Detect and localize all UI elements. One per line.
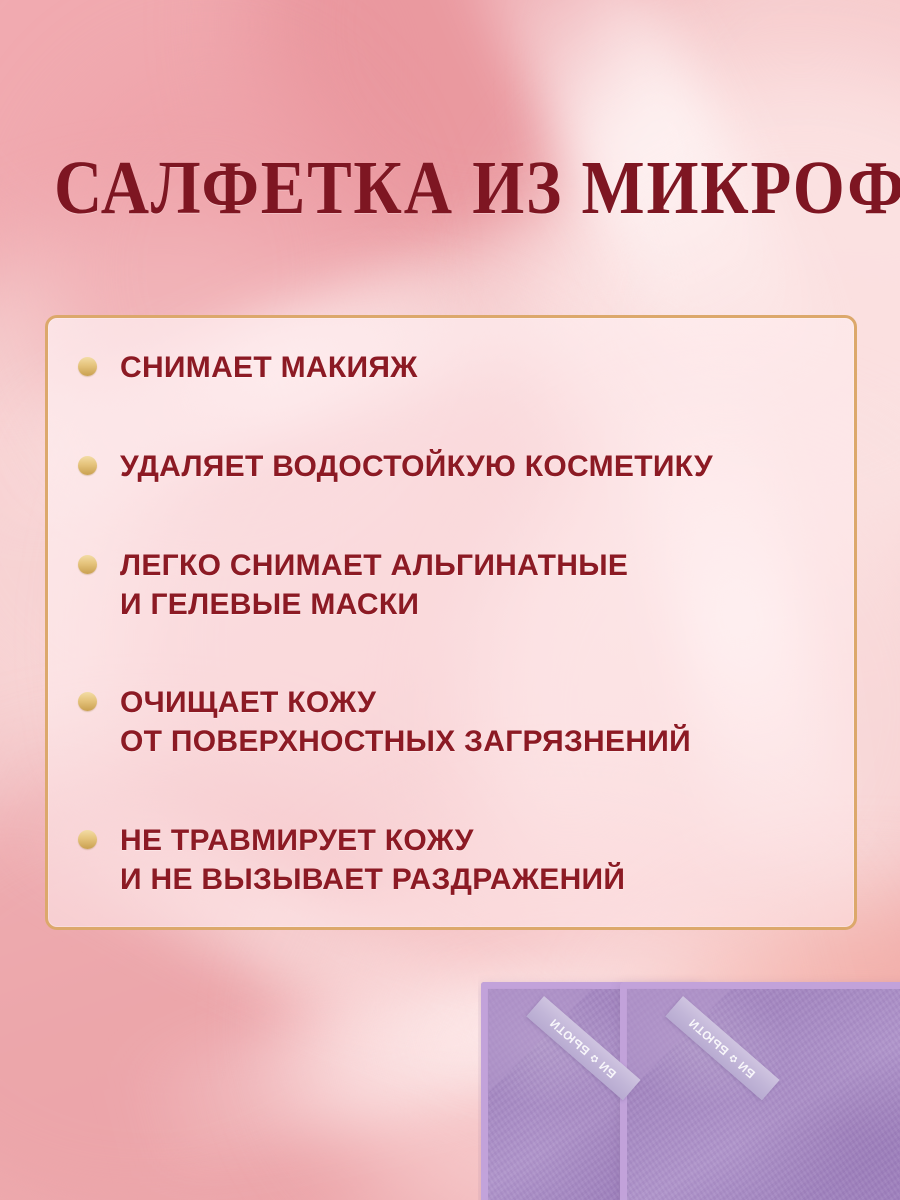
features-list: СНИМАЕТ МАКИЯЖ УДАЛЯЕТ ВОДОСТОЙКУЮ КОСМЕ… bbox=[78, 340, 830, 909]
list-item: УДАЛЯЕТ ВОДОСТОЙКУЮ КОСМЕТИКУ bbox=[78, 447, 830, 486]
feature-text: УДАЛЯЕТ ВОДОСТОЙКУЮ КОСМЕТИКУ bbox=[120, 447, 713, 486]
brand-label-prefix: БИ bbox=[735, 1058, 758, 1081]
feature-line: УДАЛЯЕТ ВОДОСТОЙКУЮ КОСМЕТИКУ bbox=[120, 447, 713, 486]
feature-line: НЕ ТРАВМИРУЕТ КОЖУ bbox=[120, 821, 625, 860]
feature-line: И НЕ ВЫЗЫВАЕТ РАЗДРАЖЕНИЙ bbox=[120, 860, 625, 899]
feature-text: НЕ ТРАВМИРУЕТ КОЖУ И НЕ ВЫЗЫВАЕТ РАЗДРАЖ… bbox=[120, 821, 625, 899]
list-item: НЕ ТРАВМИРУЕТ КОЖУ И НЕ ВЫЗЫВАЕТ РАЗДРАЖ… bbox=[78, 821, 830, 899]
bullet-dot-icon bbox=[78, 456, 97, 475]
feature-line: ОЧИЩАЕТ КОЖУ bbox=[120, 683, 691, 722]
bullet-dot-icon bbox=[78, 555, 97, 574]
feature-line: ОТ ПОВЕРХНОСТНЫХ ЗАГРЯЗНЕНИЙ bbox=[120, 722, 691, 761]
list-item: ЛЕГКО СНИМАЕТ АЛЬГИНАТНЫЕ И ГЕЛЕВЫЕ МАСК… bbox=[78, 546, 830, 624]
features-panel: СНИМАЕТ МАКИЯЖ УДАЛЯЕТ ВОДОСТОЙКУЮ КОСМЕ… bbox=[45, 315, 857, 930]
feature-text: СНИМАЕТ МАКИЯЖ bbox=[120, 348, 418, 387]
brand-label-prefix: БИ bbox=[596, 1058, 619, 1081]
product-photo: БЬЮТИ ✿ БИ БЬЮТИ ✿ БИ bbox=[478, 972, 900, 1200]
feature-line: ЛЕГКО СНИМАЕТ АЛЬГИНАТНЫЕ bbox=[120, 546, 628, 585]
product-poster: САЛФЕТКА ИЗ МИКРОФИБРЫ СНИМАЕТ МАКИЯЖ УД… bbox=[0, 0, 900, 1200]
feature-line: И ГЕЛЕВЫЕ МАСКИ bbox=[120, 585, 628, 624]
bullet-dot-icon bbox=[78, 692, 97, 711]
list-item: СНИМАЕТ МАКИЯЖ bbox=[78, 348, 830, 387]
feature-text: ОЧИЩАЕТ КОЖУ ОТ ПОВЕРХНОСТНЫХ ЗАГРЯЗНЕНИ… bbox=[120, 683, 691, 761]
page-title: САЛФЕТКА ИЗ МИКРОФИБРЫ bbox=[54, 150, 846, 226]
list-item: ОЧИЩАЕТ КОЖУ ОТ ПОВЕРХНОСТНЫХ ЗАГРЯЗНЕНИ… bbox=[78, 683, 830, 761]
bullet-dot-icon bbox=[78, 357, 97, 376]
feature-text: ЛЕГКО СНИМАЕТ АЛЬГИНАТНЫЕ И ГЕЛЕВЫЕ МАСК… bbox=[120, 546, 628, 624]
feature-line: СНИМАЕТ МАКИЯЖ bbox=[120, 348, 418, 387]
bullet-dot-icon bbox=[78, 830, 97, 849]
